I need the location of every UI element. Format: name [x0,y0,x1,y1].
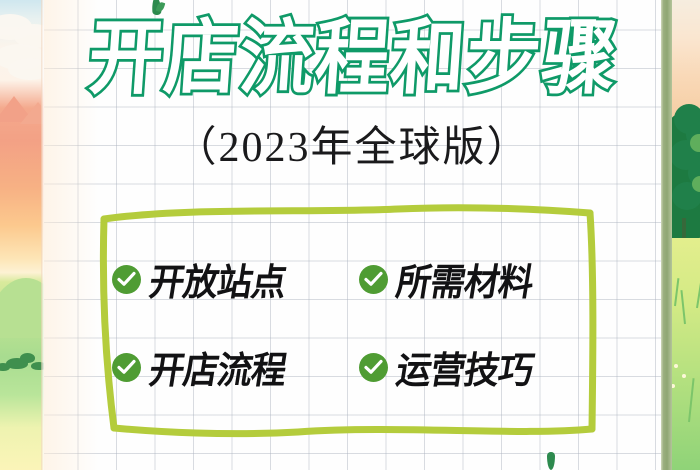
box-top-stroke [104,208,590,219]
page-title: 开店流程和步骤 [86,20,620,98]
page-subtitle: （2023年全球版） [174,113,530,174]
list-item[interactable]: 开店流程 [112,342,345,393]
flower-dot [674,364,678,368]
grass-blade [688,378,695,422]
check-circle-icon [359,265,388,294]
list-item[interactable]: 所需材料 [359,254,592,305]
flower-dot [672,384,675,388]
grass-blade [674,278,679,306]
cloud-shape [8,58,44,80]
poster-canvas: 开店流程和步骤 （2023年全球版） 开放站点 [0,0,700,470]
grass-blade [696,268,700,308]
sage-divider-bar [661,0,672,470]
grass-field-shape [672,238,700,470]
left-decoration-strip [0,0,44,470]
flower-dot [682,374,686,378]
list-item[interactable]: 开放站点 [112,254,345,305]
subtitle-container: （2023年全球版） [43,112,662,174]
bush-shape [20,353,35,363]
list-item-label: 开店流程 [146,340,291,394]
hill-shape [0,278,44,338]
grass-blade [680,290,686,324]
list-item-label: 开放站点 [146,252,291,306]
list-item[interactable]: 运营技巧 [359,342,592,393]
list-item-label: 所需材料 [393,252,538,306]
check-circle-icon [359,353,388,382]
check-circle-icon [112,265,141,294]
bullet-list: 开放站点 所需材料 开店流程 运营技巧 [112,248,592,398]
right-decoration-strip [672,0,700,470]
title-container: 开店流程和步骤 [43,12,662,107]
box-bottom-stroke [114,428,592,434]
list-item-label: 运营技巧 [393,340,538,394]
bush-shape [0,363,10,371]
check-circle-icon [112,353,141,382]
